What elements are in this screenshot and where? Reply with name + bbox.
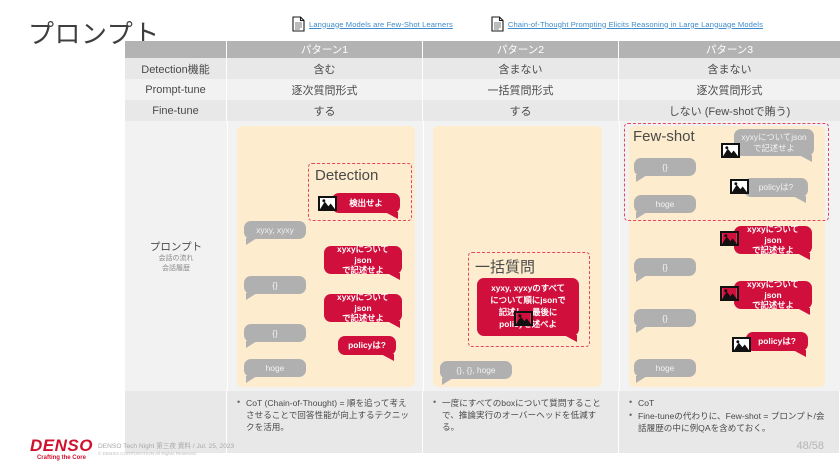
chat-bubble[interactable]: 検出せよ <box>332 193 400 213</box>
table-header-row: パターン1 パターン2 パターン3 <box>125 41 840 58</box>
note-item: CoT (Chain-of-Thought) = 順を追って考えさせることで回答… <box>246 397 415 434</box>
row-label-detection: Detection機能 <box>125 58 227 79</box>
footer-line-2: © DENSO CORPORATION All Rights Reserved. <box>98 451 197 456</box>
bubble-tail <box>246 341 257 348</box>
chat-bubble[interactable]: hoge <box>634 359 696 377</box>
reference-link-1-label[interactable]: Language Models are Few-Shot Learners <box>309 20 453 29</box>
bubble-tail <box>246 376 257 383</box>
chat-bubble-text: policyは? <box>759 182 793 193</box>
bubble-tail <box>387 321 400 328</box>
chat-bubble[interactable]: {} <box>634 309 696 327</box>
pattern2-callout-title: 一括質問 <box>475 256 535 277</box>
chat-bubble-text: xyxyについてjson で記述せよ <box>739 279 807 311</box>
bubble-tail <box>246 238 257 245</box>
cell-detection-p2: 含まない <box>423 58 619 79</box>
chat-bubble[interactable]: policyは? <box>744 178 808 197</box>
bubble-tail <box>442 378 453 385</box>
pattern1-callout-title: Detection <box>315 167 378 184</box>
bubble-tail <box>793 196 806 203</box>
chat-bubble-text: policyは? <box>758 336 796 347</box>
document-icon <box>292 16 305 32</box>
bubble-tail <box>246 293 257 300</box>
cell-fine-tune-p2: する <box>423 100 619 121</box>
chat-bubble[interactable]: hoge <box>244 359 306 377</box>
note-item: Fine-tuneの代わりに、Few-shot = プロンプト/会話履歴の中に例… <box>638 410 832 434</box>
bubble-tail <box>385 212 398 219</box>
chat-bubble-text: policyは? <box>348 340 386 351</box>
cell-prompt-tune-p1: 逐次質問形式 <box>227 79 423 100</box>
pattern2-prompt-cell: 一括質問 xyxy, xyxyのすべて について順にjsonで 記述し、最後に … <box>424 121 620 391</box>
chat-bubble[interactable]: policyは? <box>746 332 808 351</box>
chat-bubble-text: 検出せよ <box>349 198 383 209</box>
logo-wordmark: DENSO <box>30 437 93 454</box>
cell-fine-tune-p3: しない (Few-shotで賄う) <box>619 100 840 121</box>
table-row: Detection機能 含む 含まない 含まない <box>125 58 840 79</box>
image-icon <box>732 337 751 352</box>
comparison-table: パターン1 パターン2 パターン3 Detection機能 含む 含まない 含ま… <box>125 41 840 432</box>
note-item: CoT <box>638 397 832 409</box>
chat-bubble-text: hoge <box>266 363 285 374</box>
table-header-pattern3: パターン3 <box>619 41 840 58</box>
cell-prompt-tune-p2: 一括質問形式 <box>423 79 619 100</box>
bubble-tail <box>797 253 810 260</box>
image-icon <box>720 286 739 301</box>
bubble-tail <box>387 273 400 280</box>
chat-bubble[interactable]: {} <box>634 258 696 276</box>
chat-bubble[interactable]: {}, {}, hoge <box>440 361 512 379</box>
pattern3-callout-title: Few-shot <box>633 128 695 145</box>
chat-bubble[interactable]: policyは? <box>338 336 396 355</box>
chat-bubble-text: xyxyについてjson で記述せよ <box>741 132 806 154</box>
chat-bubble[interactable]: {} <box>244 324 306 342</box>
chat-bubble-text: {}, {}, hoge <box>456 365 495 376</box>
footer-line-1: DENSO Tech Night 第三夜 資料 / Jul. 25, 2023 <box>98 440 234 450</box>
row-label-fine-tune: Fine-tune <box>125 100 227 121</box>
bubble-tail <box>636 212 647 219</box>
image-icon <box>514 311 533 326</box>
bubble-tail <box>564 335 577 342</box>
image-icon <box>318 196 337 211</box>
image-icon <box>730 179 749 194</box>
chat-bubble[interactable]: xyxyについてjson で記述せよ <box>734 129 814 156</box>
logo-tagline: Crafting the Core <box>30 455 93 461</box>
table-header-pattern1: パターン1 <box>227 41 423 58</box>
reference-link-2-label[interactable]: Chain-of-Thought Prompting Elicits Reaso… <box>508 20 763 29</box>
document-icon <box>491 16 504 32</box>
chat-bubble-text: xyxy, xyxy <box>256 225 294 236</box>
bubble-tail <box>797 308 810 315</box>
bubble-tail <box>381 354 394 361</box>
image-icon <box>720 231 739 246</box>
chat-bubble[interactable]: xyxy, xyxyのすべて について順にjsonで 記述し、最後に polic… <box>477 278 579 336</box>
table-header-pattern2: パターン2 <box>423 41 619 58</box>
pattern3-prompt-cell: Few-shot xyxyについてjson で記述せよ {} policyは? <box>620 121 840 391</box>
page-number: 48/58 <box>796 440 824 452</box>
chat-bubble-text: {} <box>662 162 668 173</box>
bubble-tail <box>636 175 647 182</box>
reference-link-1[interactable]: Language Models are Few-Shot Learners <box>292 16 453 32</box>
image-icon <box>721 143 740 158</box>
chat-bubble-text: xyxyについてjson で記述せよ <box>329 244 397 276</box>
prompt-comparison-row: プロンプト 会話の流れ 会話履歴 Detection 検出せよ <box>125 121 840 391</box>
chat-bubble[interactable]: xyxyについてjson で記述せよ <box>734 226 812 254</box>
bubble-tail <box>636 326 647 333</box>
pattern1-prompt-cell: Detection 検出せよ xyxy, xyxy xyxyについてjson で… <box>228 121 424 391</box>
chat-bubble-text: {} <box>662 262 668 273</box>
row-label-prompt-tune: Prompt-tune <box>125 79 227 100</box>
pattern2-notes: 一度にすべてのboxについて質問することで、推論実行のオーバーヘッドを低減する。 <box>423 391 619 453</box>
table-row: Prompt-tune 逐次質問形式 一括質問形式 逐次質問形式 <box>125 79 840 100</box>
chat-bubble-text: hoge <box>656 363 675 374</box>
prompt-label-sub1: 会話の流れ <box>159 254 194 263</box>
prompt-label-main: プロンプト <box>150 239 202 254</box>
note-item: 一度にすべてのboxについて質問することで、推論実行のオーバーヘッドを低減する。 <box>442 397 611 434</box>
cell-detection-p3: 含まない <box>619 58 840 79</box>
chat-bubble[interactable]: xyxyについてjson で記述せよ <box>324 246 402 274</box>
bubble-tail <box>799 155 812 162</box>
bubble-tail <box>793 350 806 357</box>
chat-bubble-text: {} <box>272 328 278 339</box>
chat-bubble-text: xyxyについてjson で記述せよ <box>739 224 807 256</box>
bubble-tail <box>636 376 647 383</box>
table-row: Fine-tune する する しない (Few-shotで賄う) <box>125 100 840 121</box>
chat-bubble-text: {} <box>272 280 278 291</box>
chat-bubble[interactable]: xyxyについてjson で記述せよ <box>734 281 812 309</box>
bubble-tail <box>636 275 647 282</box>
chat-bubble-text: {} <box>662 313 668 324</box>
cell-prompt-tune-p3: 逐次質問形式 <box>619 79 840 100</box>
pattern1-notes: CoT (Chain-of-Thought) = 順を追って考えさせることで回答… <box>227 391 423 453</box>
denso-logo: DENSO Crafting the Core <box>30 437 93 461</box>
prompt-label-sub2: 会話履歴 <box>162 264 190 273</box>
chat-bubble-text: xyxyについてjson で記述せよ <box>329 292 397 324</box>
chat-bubble[interactable]: {} <box>634 158 696 176</box>
table-header-blank <box>125 41 227 58</box>
reference-link-2[interactable]: Chain-of-Thought Prompting Elicits Reaso… <box>491 16 763 32</box>
reference-links: Language Models are Few-Shot Learners Ch… <box>292 16 763 32</box>
chat-bubble-text: hoge <box>656 199 675 210</box>
cell-detection-p1: 含む <box>227 58 423 79</box>
chat-bubble[interactable]: hoge <box>634 195 696 213</box>
chat-bubble[interactable]: {} <box>244 276 306 294</box>
row-label-prompt: プロンプト 会話の流れ 会話履歴 <box>125 121 228 391</box>
chat-bubble[interactable]: xyxyについてjson で記述せよ <box>324 294 402 322</box>
cell-fine-tune-p1: する <box>227 100 423 121</box>
chat-bubble[interactable]: xyxy, xyxy <box>244 221 306 239</box>
